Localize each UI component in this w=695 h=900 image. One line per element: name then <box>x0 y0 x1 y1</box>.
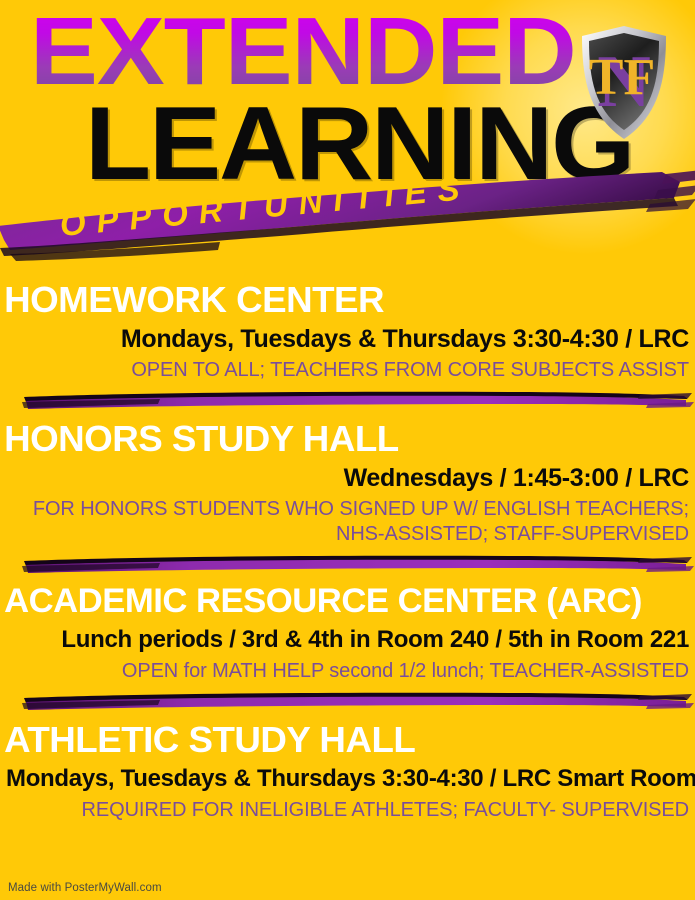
section-subtitle: Wednesdays / 1:45-3:00 / LRC <box>0 463 695 493</box>
svg-text:TF: TF <box>589 49 655 106</box>
poster-footer-credit: Made with PosterMyWall.com <box>8 882 162 894</box>
section-title: HOMEWORK CENTER <box>0 280 695 320</box>
section-divider <box>0 690 695 714</box>
section-divider <box>0 553 695 577</box>
divider-brush-shape <box>0 553 695 577</box>
section-divider <box>0 389 695 413</box>
section-description-line-1: FOR HONORS STUDENTS WHO SIGNED UP W/ ENG… <box>0 497 695 522</box>
divider-brush-shape <box>0 389 695 413</box>
poster-header: EXTENDED LEARNING N <box>0 0 695 272</box>
tf-shield-logo: N TF <box>578 24 670 142</box>
section-description: REQUIRED FOR INELIGIBLE ATHLETES; FACULT… <box>0 798 695 823</box>
section-title: ACADEMIC RESOURCE CENTER (ARC) <box>0 581 695 621</box>
shield-letters-tf: TF <box>589 49 655 106</box>
section-description: OPEN TO ALL; TEACHERS FROM CORE SUBJECTS… <box>0 358 695 383</box>
section-title: HONORS STUDY HALL <box>0 419 695 459</box>
section-honors-study-hall: HONORS STUDY HALL Wednesdays / 1:45-3:00… <box>0 419 695 547</box>
section-academic-resource-center: ACADEMIC RESOURCE CENTER (ARC) Lunch per… <box>0 581 695 684</box>
section-athletic-study-hall: ATHLETIC STUDY HALL Mondays, Tuesdays & … <box>0 720 695 823</box>
section-description: OPEN for MATH HELP second 1/2 lunch; TEA… <box>0 659 695 684</box>
section-subtitle: Lunch periods / 3rd & 4th in Room 240 / … <box>0 625 695 655</box>
section-description-line-2: NHS-ASSISTED; STAFF-SUPERVISED <box>0 522 695 547</box>
divider-brush-shape <box>0 690 695 714</box>
section-subtitle: Mondays, Tuesdays & Thursdays 3:30-4:30 … <box>0 764 695 794</box>
poster-canvas: EXTENDED LEARNING N <box>0 0 695 900</box>
section-title: ATHLETIC STUDY HALL <box>0 720 695 760</box>
section-homework-center: HOMEWORK CENTER Mondays, Tuesdays & Thur… <box>0 280 695 383</box>
opportunities-banner: OPPORTUNITIES <box>0 168 695 268</box>
section-subtitle: Mondays, Tuesdays & Thursdays 3:30-4:30 … <box>0 324 695 354</box>
